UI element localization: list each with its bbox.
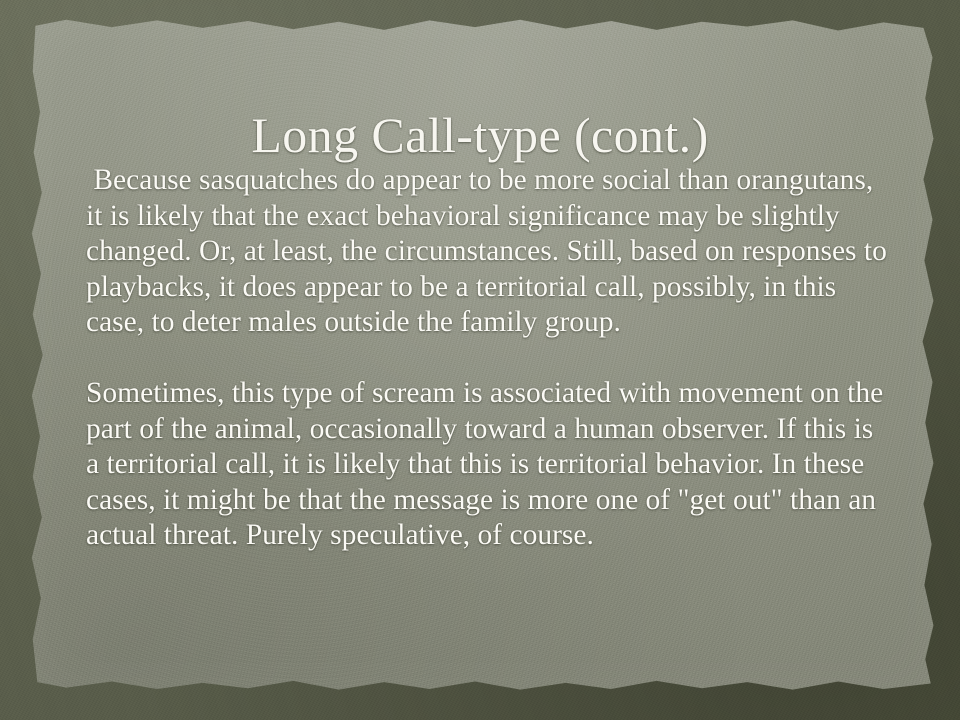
presentation-slide: Long Call-type (cont.) Because sasquatch… [0,0,960,720]
slide-content: Long Call-type (cont.) Because sasquatch… [0,0,960,720]
slide-title: Long Call-type (cont.) [0,106,960,164]
body-paragraph-2: Sometimes, this type of scream is associ… [86,376,892,554]
body-paragraph-1: Because sasquatches do appear to be more… [86,163,892,341]
slide-body: Because sasquatches do appear to be more… [86,163,892,554]
